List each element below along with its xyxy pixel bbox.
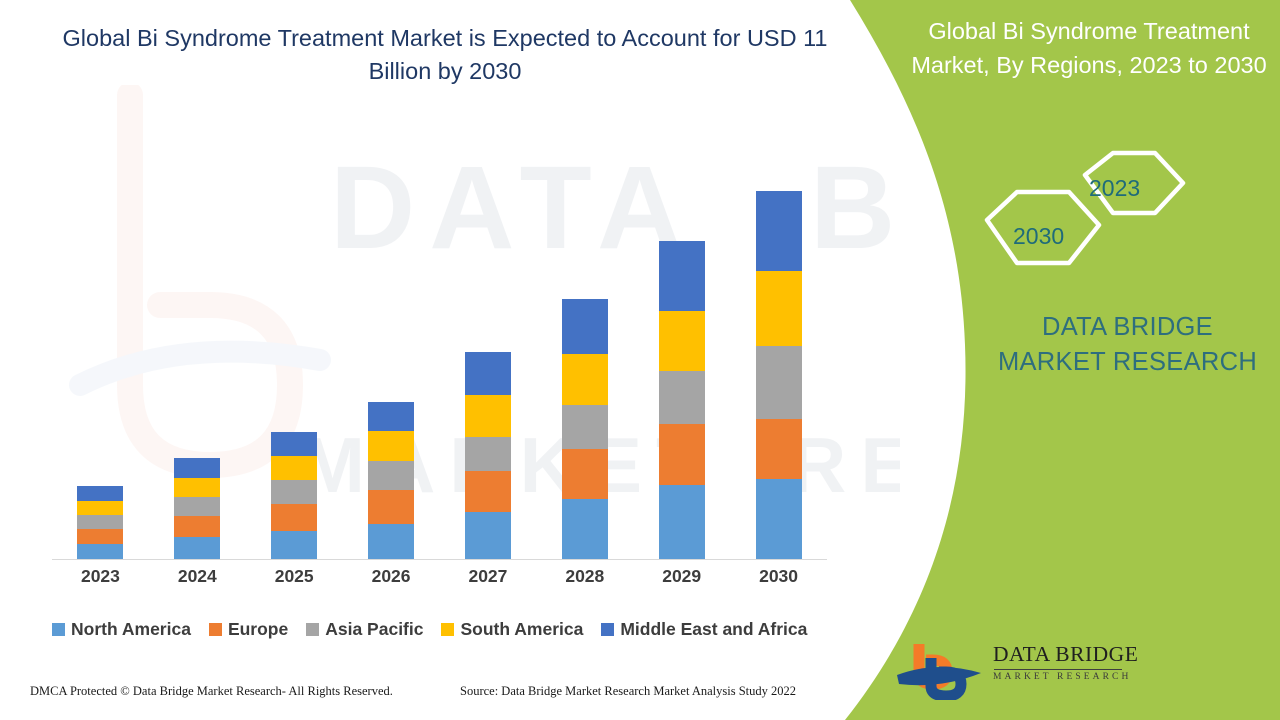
- hexagon-badges: 2023 2030: [965, 145, 1195, 280]
- hexagon-label-end: 2030: [1013, 223, 1064, 250]
- legend-item[interactable]: North America: [52, 619, 191, 640]
- x-axis-line: [52, 559, 827, 560]
- bar-segment: [174, 516, 220, 537]
- legend-label: South America: [460, 619, 583, 640]
- x-axis-label-2030: 2030: [739, 566, 819, 587]
- brand-name: DATA BRIDGE MARKET RESEARCH: [985, 310, 1270, 380]
- bar-2025[interactable]: [271, 432, 317, 559]
- bar-segment: [562, 354, 608, 405]
- logo-tagline: MARKET RESEARCH: [993, 673, 1123, 683]
- bar-segment: [271, 531, 317, 559]
- bar-segment: [659, 311, 705, 371]
- x-axis-label-2025: 2025: [254, 566, 334, 587]
- bar-segment: [271, 480, 317, 504]
- page-title: Global Bi Syndrome Treatment Market is E…: [60, 22, 830, 89]
- x-axis-label-2024: 2024: [157, 566, 237, 587]
- bar-segment: [659, 241, 705, 311]
- panel-title: Global Bi Syndrome Treatment Market, By …: [905, 14, 1273, 82]
- hexagon-outline-icon: [965, 145, 1195, 280]
- footer-source-text: Source: Data Bridge Market Research Mark…: [460, 684, 796, 699]
- legend-swatch-icon: [441, 623, 454, 636]
- legend-swatch-icon: [601, 623, 614, 636]
- legend-item[interactable]: Asia Pacific: [306, 619, 423, 640]
- bar-segment: [756, 419, 802, 479]
- bar-segment: [562, 299, 608, 354]
- bar-2023[interactable]: [77, 486, 123, 559]
- bar-segment: [368, 524, 414, 559]
- bar-segment: [77, 486, 123, 501]
- chart-plot-area: [52, 159, 827, 559]
- bar-segment: [659, 371, 705, 424]
- infographic-canvas: DATA BRIDGE MARKET RESEARCH Global Bi Sy…: [0, 0, 1280, 720]
- data-bridge-logo: DATA BRIDGE MARKET RESEARCH: [893, 640, 1108, 702]
- bar-segment: [562, 405, 608, 449]
- bar-segment: [659, 485, 705, 559]
- bar-segment: [756, 271, 802, 346]
- legend-swatch-icon: [209, 623, 222, 636]
- bar-segment: [465, 512, 511, 559]
- bar-segment: [756, 346, 802, 419]
- bar-segment: [271, 504, 317, 531]
- bar-segment: [174, 537, 220, 559]
- bar-2029[interactable]: [659, 241, 705, 559]
- logo-name: DATA BRIDGE: [993, 644, 1123, 666]
- stacked-bar-chart: [52, 150, 827, 560]
- legend-swatch-icon: [52, 623, 65, 636]
- bar-2024[interactable]: [174, 458, 220, 559]
- x-axis-label-2023: 2023: [60, 566, 140, 587]
- x-axis-label-2027: 2027: [448, 566, 528, 587]
- bar-segment: [756, 191, 802, 271]
- footer-dmca-text: DMCA Protected © Data Bridge Market Rese…: [30, 684, 393, 699]
- legend-label: Europe: [228, 619, 288, 640]
- bar-segment: [368, 461, 414, 490]
- bar-segment: [659, 424, 705, 486]
- legend-item[interactable]: South America: [441, 619, 583, 640]
- bar-segment: [756, 479, 802, 559]
- bar-segment: [465, 471, 511, 512]
- legend-label: Asia Pacific: [325, 619, 423, 640]
- bar-segment: [271, 432, 317, 456]
- x-axis-label-2026: 2026: [351, 566, 431, 587]
- footer: DMCA Protected © Data Bridge Market Rese…: [0, 684, 845, 708]
- legend-swatch-icon: [306, 623, 319, 636]
- bar-segment: [174, 497, 220, 516]
- bar-segment: [77, 544, 123, 559]
- logo-divider: [994, 669, 1122, 670]
- bar-2030[interactable]: [756, 191, 802, 559]
- legend-item[interactable]: Europe: [209, 619, 288, 640]
- bar-segment: [77, 501, 123, 515]
- bar-2028[interactable]: [562, 299, 608, 559]
- legend-label: North America: [71, 619, 191, 640]
- x-axis-label-2028: 2028: [545, 566, 625, 587]
- bar-segment: [368, 431, 414, 461]
- legend-item[interactable]: Middle East and Africa: [601, 619, 807, 640]
- bar-segment: [174, 478, 220, 497]
- bar-2027[interactable]: [465, 352, 511, 559]
- bar-2026[interactable]: [368, 402, 414, 559]
- bar-segment: [174, 458, 220, 478]
- bar-segment: [271, 456, 317, 480]
- bar-segment: [368, 490, 414, 523]
- bar-segment: [77, 515, 123, 529]
- x-axis-label-2029: 2029: [642, 566, 722, 587]
- bar-segment: [368, 402, 414, 431]
- bar-segment: [465, 395, 511, 437]
- logo-mark-icon: [893, 640, 985, 700]
- bar-segment: [465, 352, 511, 395]
- bar-segment: [562, 449, 608, 500]
- hexagon-label-start: 2023: [1089, 175, 1140, 202]
- chart-legend: North AmericaEuropeAsia PacificSouth Ame…: [52, 616, 842, 642]
- bar-segment: [77, 529, 123, 544]
- logo-text-block: DATA BRIDGE MARKET RESEARCH: [993, 644, 1123, 682]
- legend-label: Middle East and Africa: [620, 619, 807, 640]
- x-axis-labels: 20232024202520262027202820292030: [52, 566, 827, 592]
- bar-segment: [465, 437, 511, 472]
- bar-segment: [562, 499, 608, 559]
